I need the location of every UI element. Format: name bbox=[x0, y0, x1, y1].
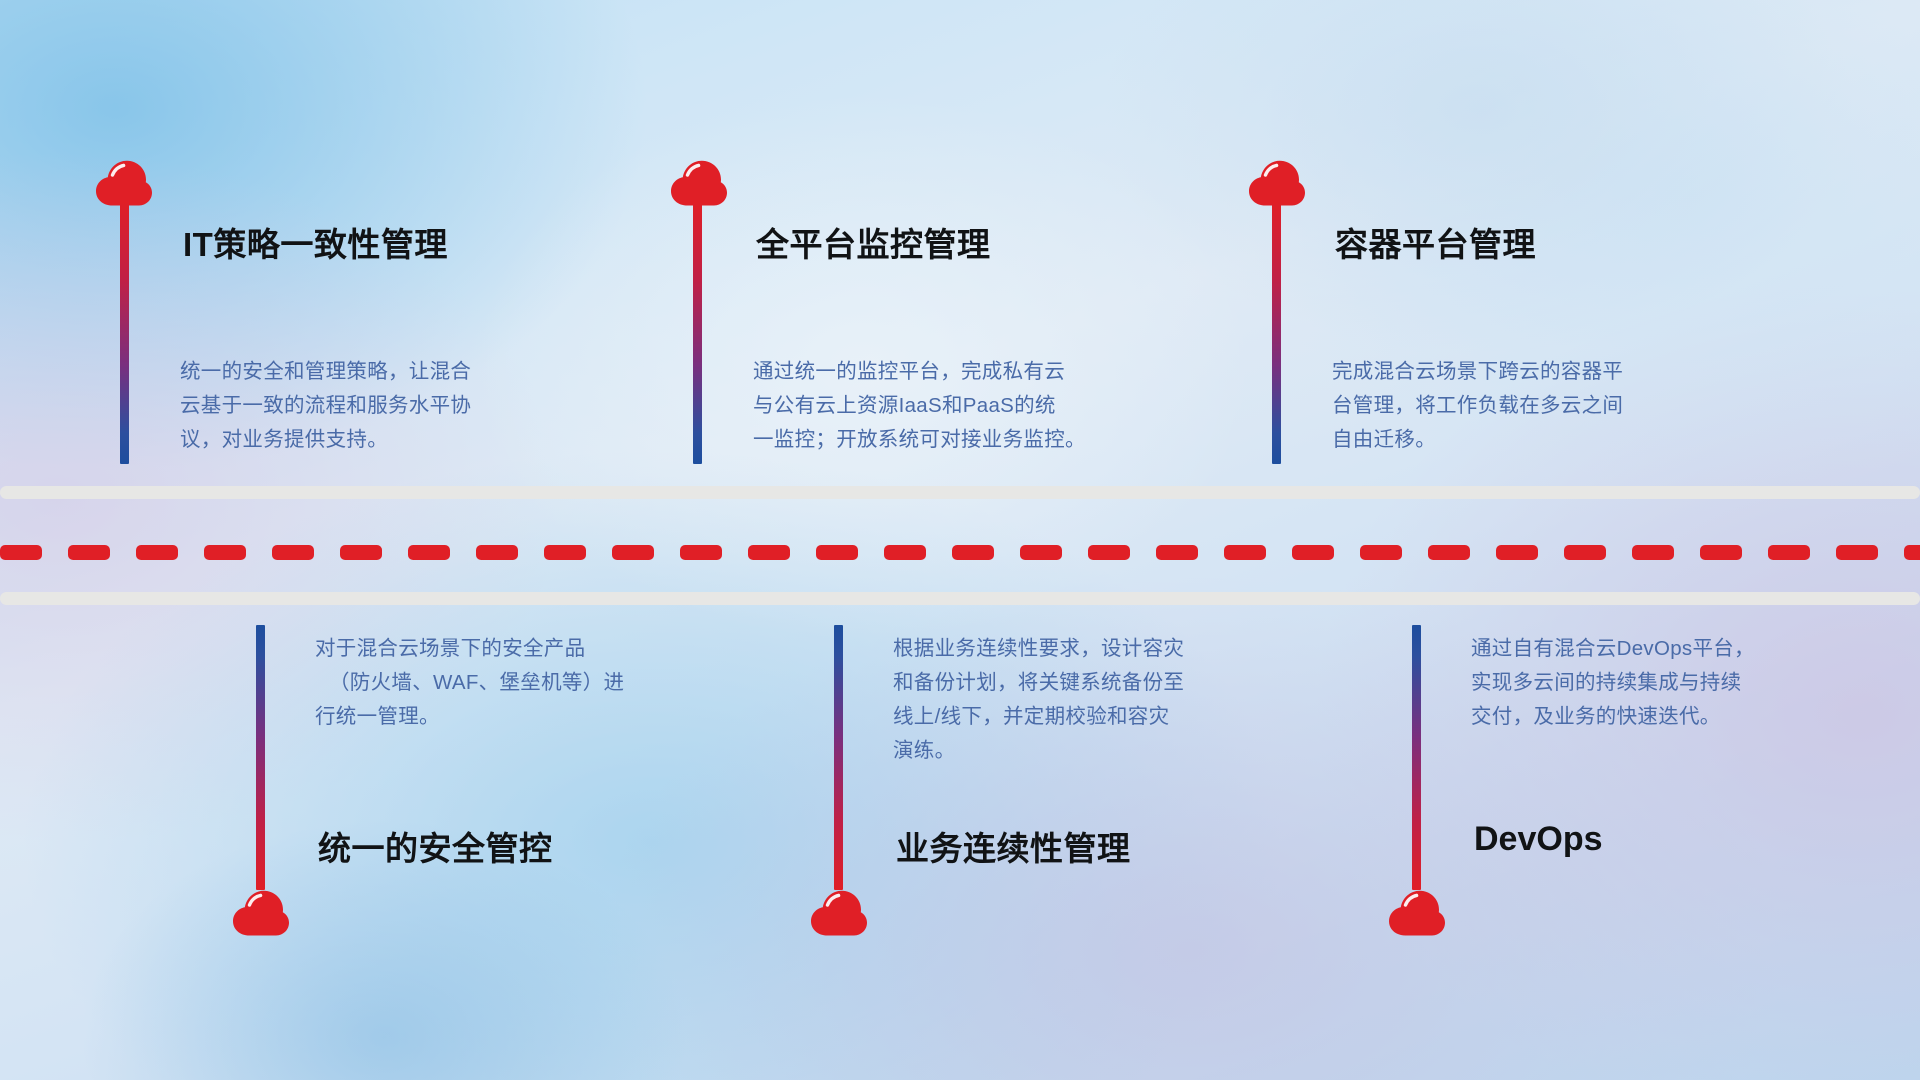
desc-line: 通过自有混合云DevOps平台， bbox=[1471, 632, 1755, 666]
desc-line: 行统一管理。 bbox=[315, 700, 624, 734]
road-dash-segment bbox=[1224, 545, 1266, 560]
desc-line: 线上/线下，并定期校验和容灾 bbox=[893, 700, 1184, 734]
top-description-3: 完成混合云场景下跨云的容器平 台管理，将工作负载在多云之间 自由迁移。 bbox=[1332, 355, 1623, 457]
cloud-icon bbox=[1248, 160, 1306, 206]
top-heading-2: 全平台监控管理 bbox=[756, 218, 991, 266]
road-dash-segment bbox=[408, 545, 450, 560]
desc-line: 自由迁移。 bbox=[1332, 423, 1623, 457]
road-dash-segment bbox=[476, 545, 518, 560]
desc-line: 交付，及业务的快速迭代。 bbox=[1471, 700, 1755, 734]
road-dash-segment bbox=[612, 545, 654, 560]
cloud-icon bbox=[670, 160, 728, 206]
desc-line: 和备份计划，将关键系统备份至 bbox=[893, 666, 1184, 700]
road-dash-segment bbox=[204, 545, 246, 560]
bottom-heading-1: 统一的安全管控 bbox=[318, 822, 553, 870]
road-dash-segment bbox=[1632, 545, 1674, 560]
road-dash-segment bbox=[272, 545, 314, 560]
desc-line: 议，对业务提供支持。 bbox=[180, 423, 471, 457]
desc-line: （防火墙、WAF、堡垒机等）进 bbox=[315, 666, 624, 700]
road-dash-segment bbox=[1700, 545, 1742, 560]
desc-line: 通过统一的监控平台，完成私有云 bbox=[753, 355, 1086, 389]
road-dash-segment bbox=[1360, 545, 1402, 560]
road-dash-segment bbox=[1428, 545, 1470, 560]
desc-line: 统一的安全和管理策略，让混合 bbox=[180, 355, 471, 389]
top-heading-1: IT策略一致性管理 bbox=[183, 218, 448, 266]
desc-line: 实现多云间的持续集成与持续 bbox=[1471, 666, 1755, 700]
desc-line: 一监控；开放系统可对接业务监控。 bbox=[753, 423, 1086, 457]
road-dash-segment bbox=[1088, 545, 1130, 560]
road-dash-segment bbox=[952, 545, 994, 560]
bottom-description-2: 根据业务连续性要求，设计容灾 和备份计划，将关键系统备份至 线上/线下，并定期校… bbox=[893, 632, 1184, 768]
marker-stem bbox=[120, 202, 129, 464]
road-dash-segment bbox=[1836, 545, 1878, 560]
marker-stem bbox=[256, 625, 265, 890]
bottom-heading-2: 业务连续性管理 bbox=[896, 822, 1131, 870]
road-dash-segment bbox=[1020, 545, 1062, 560]
bottom-description-1: 对于混合云场景下的安全产品 （防火墙、WAF、堡垒机等）进 行统一管理。 bbox=[315, 632, 624, 734]
road-dash-segment bbox=[884, 545, 926, 560]
cloud-icon bbox=[810, 890, 868, 936]
road-dash-segment bbox=[0, 545, 42, 560]
road-dash-segment bbox=[544, 545, 586, 560]
desc-line: 对于混合云场景下的安全产品 bbox=[315, 632, 624, 666]
cloud-icon bbox=[95, 160, 153, 206]
road-dash-segment bbox=[680, 545, 722, 560]
road-dash-segment bbox=[340, 545, 382, 560]
road-dash-segment bbox=[1156, 545, 1198, 560]
road-dash-segment bbox=[1564, 545, 1606, 560]
road-dash-segment bbox=[68, 545, 110, 560]
top-heading-3: 容器平台管理 bbox=[1335, 218, 1536, 266]
desc-line: 完成混合云场景下跨云的容器平 bbox=[1332, 355, 1623, 389]
road-dash-segment bbox=[816, 545, 858, 560]
desc-line: 演练。 bbox=[893, 734, 1184, 768]
desc-line: 台管理，将工作负载在多云之间 bbox=[1332, 389, 1623, 423]
cloud-icon bbox=[1388, 890, 1446, 936]
marker-stem bbox=[1412, 625, 1421, 890]
desc-line: 根据业务连续性要求，设计容灾 bbox=[893, 632, 1184, 666]
road-dash-segment bbox=[1292, 545, 1334, 560]
marker-stem bbox=[834, 625, 843, 890]
road-dash-segment bbox=[1904, 545, 1920, 560]
road-dash-segment bbox=[136, 545, 178, 560]
bottom-description-3: 通过自有混合云DevOps平台， 实现多云间的持续集成与持续 交付，及业务的快速… bbox=[1471, 632, 1755, 734]
bottom-heading-3: DevOps bbox=[1474, 820, 1603, 859]
road-dash-segment bbox=[1496, 545, 1538, 560]
desc-line: 云基于一致的流程和服务水平协 bbox=[180, 389, 471, 423]
cloud-icon bbox=[232, 890, 290, 936]
top-description-2: 通过统一的监控平台，完成私有云 与公有云上资源IaaS和PaaS的统 一监控；开… bbox=[753, 355, 1086, 457]
road-line-upper bbox=[0, 486, 1920, 499]
road-center-dashed-line bbox=[0, 545, 1920, 560]
road-line-lower bbox=[0, 592, 1920, 605]
marker-stem bbox=[1272, 202, 1281, 464]
road-dash-segment bbox=[1768, 545, 1810, 560]
road-dash-segment bbox=[748, 545, 790, 560]
marker-stem bbox=[693, 202, 702, 464]
desc-line: 与公有云上资源IaaS和PaaS的统 bbox=[753, 389, 1086, 423]
top-description-1: 统一的安全和管理策略，让混合 云基于一致的流程和服务水平协 议，对业务提供支持。 bbox=[180, 355, 471, 457]
